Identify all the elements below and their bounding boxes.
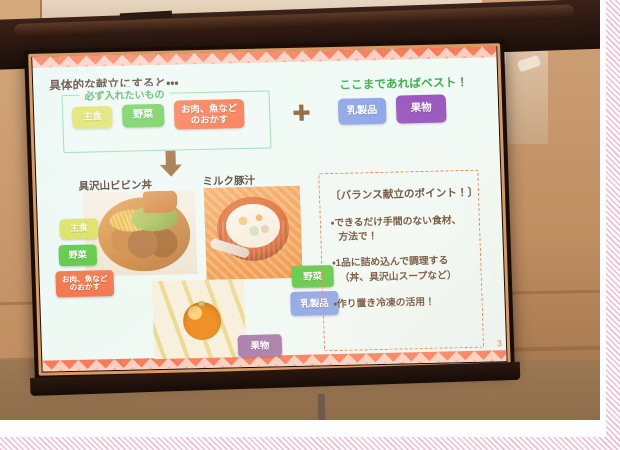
down-arrow-icon: [158, 150, 183, 177]
projector-screen-weight-bar: [318, 394, 326, 420]
slide-content: 具体的な献立にすると・・・ 必ず入れたいもの 主食 野菜 お肉、魚など のおかす…: [33, 57, 507, 360]
photo-milk-pork-soup: [204, 186, 303, 280]
photo-bibimbap-bowl: [83, 190, 198, 276]
slide-page-number: 3: [497, 338, 502, 348]
badge-staple-food: 主食: [72, 106, 113, 129]
balance-point-line1: ・1品に詰め込んで調理する: [332, 256, 448, 270]
best-section-heading: ここまであればベスト！: [339, 74, 468, 93]
badge-meat-fish-dish: お肉、魚など のおかす: [174, 99, 245, 130]
decorative-stripe-right: [606, 0, 620, 450]
badge-dairy: 乳製品: [338, 98, 387, 125]
balance-point-line2: （丼、具沢山スープなど）: [333, 268, 473, 285]
balance-point-item: ・1品に詰め込んで調理する （丼、具沢山スープなど）: [332, 254, 473, 286]
photo-label-meat-fish-dish: お肉、魚など のおかす: [55, 270, 114, 297]
decorative-frame: 具体的な献立にすると・・・ 必ず入れたいもの 主食 野菜 お肉、魚など のおかす…: [0, 0, 620, 450]
balance-points-title: 〔バランス献立のポイント！〕: [330, 185, 470, 203]
balance-points-box: 〔バランス献立のポイント！〕 ・できるだけ手間のない食材、 方法で！ ・1品に詰…: [318, 170, 484, 352]
photo-orange-fruit: [152, 279, 247, 359]
decorative-stripe-bottom: [0, 437, 620, 450]
photo-label-fruit: 果物: [238, 334, 283, 357]
presentation-slide: 具体的な献立にすると・・・ 必ず入れたいもの 主食 野菜 お肉、魚など のおかす…: [32, 46, 506, 371]
balance-point-line1: ・できるだけ手間のない食材、: [331, 215, 462, 229]
balance-point-line2: 方法で！: [331, 228, 471, 245]
balance-point-item: ・できるだけ手間のない食材、 方法で！: [331, 214, 472, 246]
badge-fruit: 果物: [396, 94, 447, 123]
must-include-box-legend: 必ず入れたいもの: [79, 86, 169, 103]
badge-vegetables: 野菜: [122, 104, 165, 128]
plus-icon: ✚: [292, 106, 311, 124]
balance-point-line1: ・作り置き冷凍の活用！: [333, 297, 435, 310]
projector-screen: 具体的な献立にすると・・・ 必ず入れたいもの 主食 野菜 お肉、魚など のおかす…: [24, 39, 515, 380]
photo-label-vegetables-left: 野菜: [58, 244, 97, 266]
photo-label-staple-food: 主食: [60, 218, 99, 239]
slide-top-row: 具体的な献立にすると・・・ 必ず入れたいもの 主食 野菜 お肉、魚など のおかす…: [49, 68, 486, 164]
photograph-of-projector-screen: 具体的な献立にすると・・・ 必ず入れたいもの 主食 野菜 お肉、魚など のおかす…: [0, 0, 600, 420]
balance-point-item: ・作り置き冷凍の活用！: [333, 295, 473, 312]
